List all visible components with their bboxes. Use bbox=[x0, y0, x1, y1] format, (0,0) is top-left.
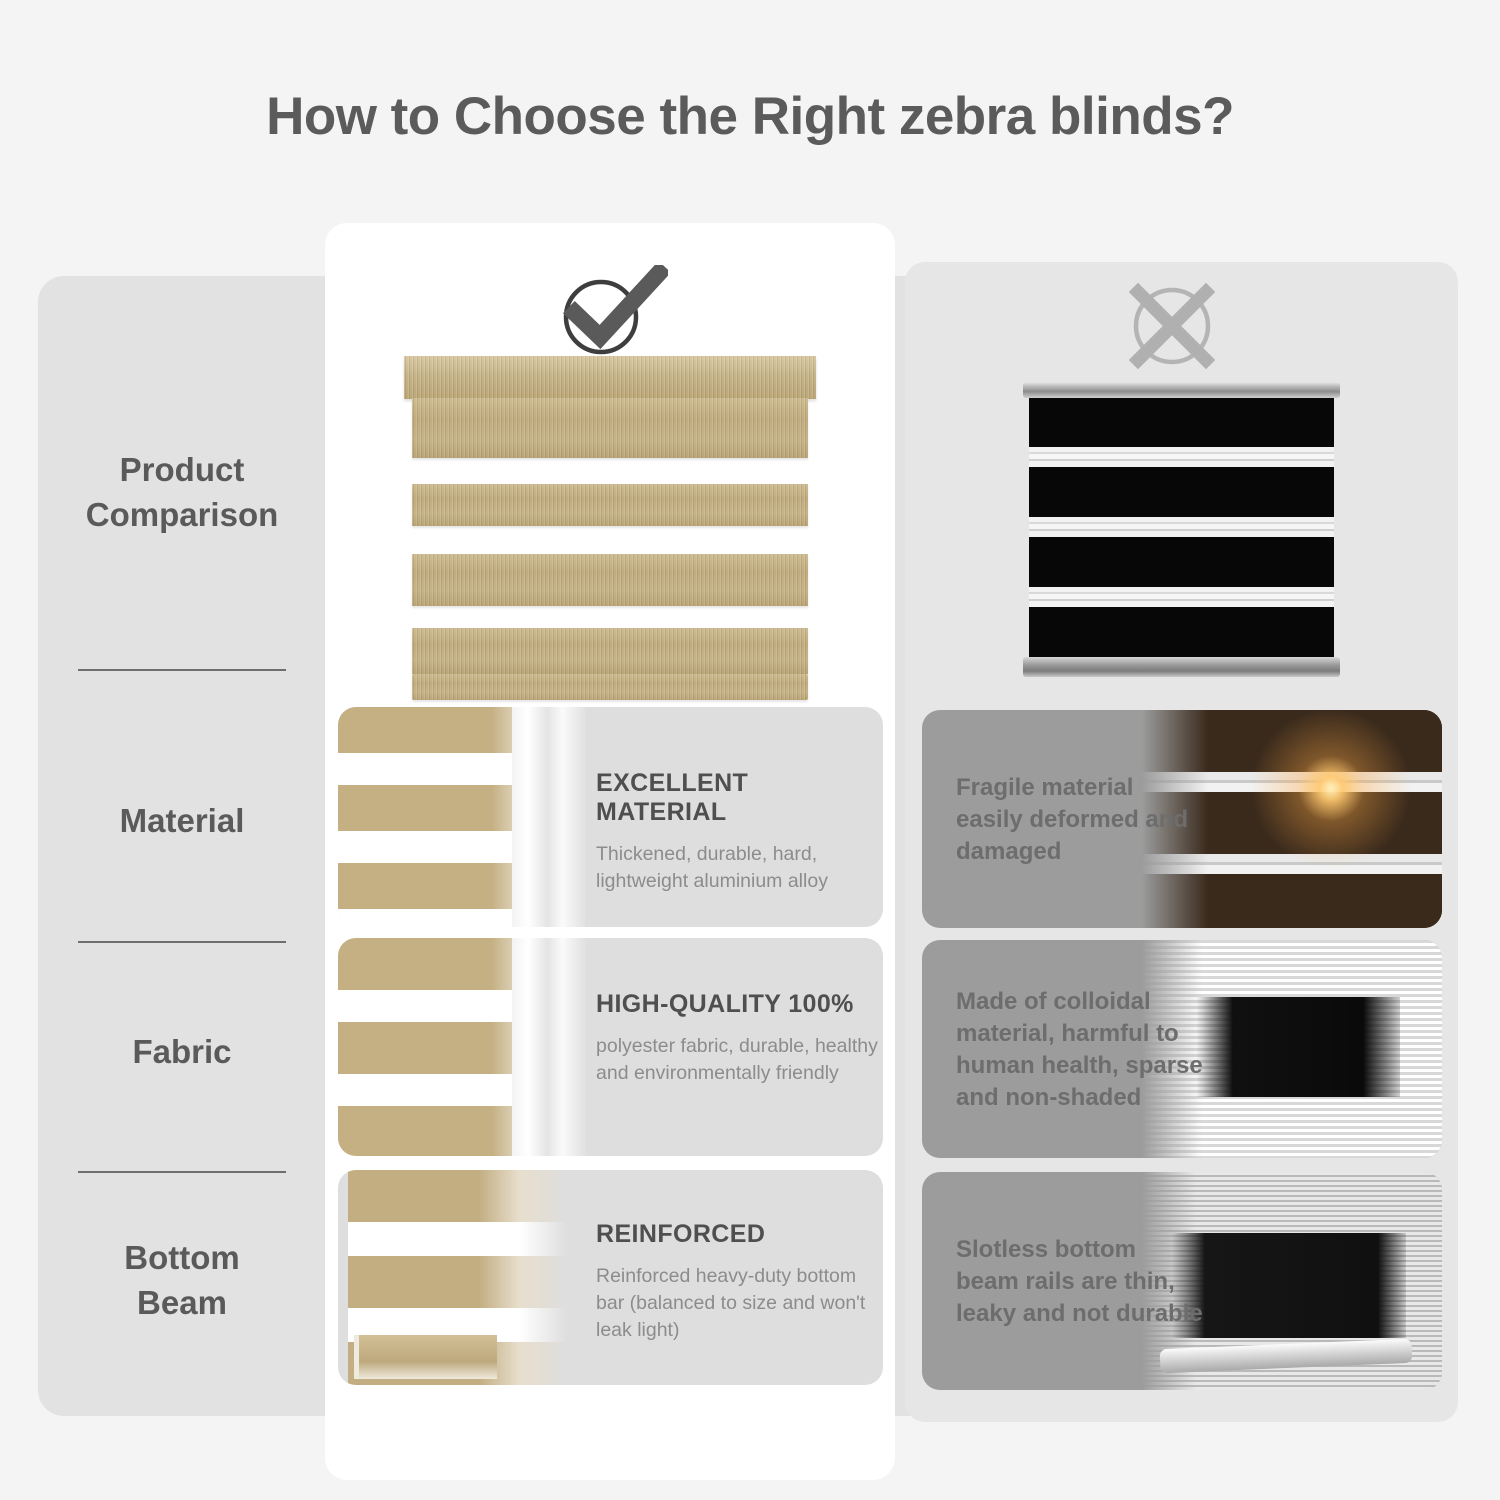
bottom-bar-edge bbox=[354, 1335, 497, 1379]
infographic-page: How to Choose the Right zebra blinds? Pr… bbox=[0, 0, 1500, 1500]
feature-body: Thickened, durable, hard, lightweight al… bbox=[596, 841, 874, 895]
row-label-line: Fabric bbox=[38, 1030, 326, 1075]
good-feature-card-material: EXCELLENT MATERIAL Thickened, durable, h… bbox=[338, 707, 883, 927]
window-frame bbox=[512, 707, 586, 927]
blind-headrail bbox=[1023, 382, 1340, 398]
feature-title: REINFORCED bbox=[596, 1220, 878, 1249]
row-label-line: Bottom bbox=[38, 1236, 326, 1281]
zebra-blind-fabric-photo bbox=[338, 938, 586, 1156]
bad-feature-card-bottom-beam: Slotless bottom beam rails are thin, lea… bbox=[922, 1172, 1442, 1390]
thin-rail-bar bbox=[1160, 1339, 1413, 1374]
cross-circle-icon bbox=[1122, 280, 1222, 372]
blind-bottom-rail bbox=[1023, 657, 1340, 677]
good-feature-text-material: EXCELLENT MATERIAL Thickened, durable, h… bbox=[596, 769, 874, 895]
feature-body: polyester fabric, durable, healthy and e… bbox=[596, 1033, 881, 1087]
feature-title: EXCELLENT MATERIAL bbox=[596, 769, 874, 827]
row-divider bbox=[78, 669, 286, 671]
good-feature-card-bottom-beam: REINFORCED Reinforced heavy-duty bottom … bbox=[338, 1170, 883, 1385]
row-label-material: Material bbox=[38, 799, 326, 844]
bad-feature-card-material: Fragile material easily deformed and dam… bbox=[922, 710, 1442, 928]
row-label-fabric: Fabric bbox=[38, 1030, 326, 1075]
row-label-column: Product Comparison Material Fabric Botto… bbox=[38, 276, 326, 1416]
row-label-line: Comparison bbox=[38, 493, 326, 538]
row-divider bbox=[78, 941, 286, 943]
row-label-line: Material bbox=[38, 799, 326, 844]
zebra-blind-bottom-bar-photo bbox=[348, 1170, 586, 1385]
fabric-dark-band bbox=[1196, 997, 1400, 1097]
tan-wood-zebra-blind-photo bbox=[404, 356, 816, 696]
blind-slat bbox=[412, 398, 808, 458]
blind-slat bbox=[412, 484, 808, 526]
row-label-bottom-beam: Bottom Beam bbox=[38, 1236, 326, 1325]
feature-title: HIGH-QUALITY 100% bbox=[596, 990, 881, 1019]
blind-headrail bbox=[404, 356, 816, 399]
bad-feature-text-material: Fragile material easily deformed and dam… bbox=[956, 772, 1206, 868]
rail-dark-band bbox=[1172, 1233, 1406, 1338]
blind-bottom-bar bbox=[412, 674, 808, 700]
check-circle-icon bbox=[553, 265, 668, 360]
page-title: How to Choose the Right zebra blinds? bbox=[0, 86, 1500, 147]
row-label-line: Product bbox=[38, 448, 326, 493]
good-feature-text-fabric: HIGH-QUALITY 100% polyester fabric, dura… bbox=[596, 990, 881, 1087]
good-feature-card-fabric: HIGH-QUALITY 100% polyester fabric, dura… bbox=[338, 938, 883, 1156]
row-label-product-comparison: Product Comparison bbox=[38, 448, 326, 537]
blind-slat bbox=[412, 628, 808, 674]
blind-fabric-body bbox=[1029, 397, 1334, 659]
bad-feature-text-fabric: Made of colloidal material, harmful to h… bbox=[956, 986, 1218, 1114]
bad-feature-card-fabric: Made of colloidal material, harmful to h… bbox=[922, 940, 1442, 1158]
window-frame bbox=[512, 938, 586, 1156]
feature-body: Reinforced heavy-duty bottom bar (balanc… bbox=[596, 1263, 878, 1344]
row-label-line: Beam bbox=[38, 1281, 326, 1326]
blind-slat bbox=[412, 554, 808, 606]
black-roller-zebra-blind-photo bbox=[1023, 382, 1340, 677]
good-feature-text-bottom-beam: REINFORCED Reinforced heavy-duty bottom … bbox=[596, 1220, 878, 1344]
row-divider bbox=[78, 1171, 286, 1173]
zebra-blind-closeup-photo bbox=[338, 707, 586, 927]
bad-feature-text-bottom-beam: Slotless bottom beam rails are thin, lea… bbox=[956, 1234, 1204, 1330]
